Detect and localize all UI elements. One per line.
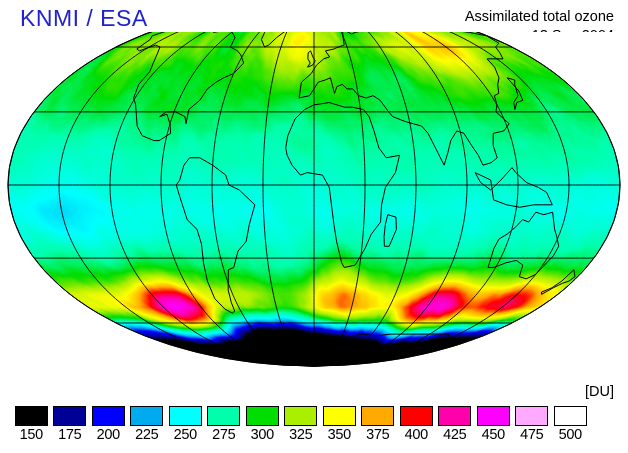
colorbar-swatch [323,406,356,426]
colorbar-tick-label: 150 [12,428,51,443]
colorbar-cell: 500 [551,406,590,443]
colorbar-swatch [438,406,471,426]
colorbar-tick-label: 225 [128,428,167,443]
colorbar-swatches: 1501752002252502753003253503754004254504… [0,406,628,453]
unit-label: [DU] [585,384,614,400]
ozone-map [4,32,624,404]
colorbar-tick-label: 300 [243,428,282,443]
colorbar-swatch [361,406,394,426]
colorbar-swatch [15,406,48,426]
colorbar-cell: 225 [128,406,167,443]
colorbar-tick-label: 475 [513,428,552,443]
colorbar-tick-label: 200 [89,428,128,443]
quantity-label: Assimilated total ozone [465,8,614,27]
page-title: KNMI / ESA [20,6,148,30]
colorbar-tick-label: 450 [474,428,513,443]
colorbar-tick-label: 500 [551,428,590,443]
colorbar-swatch [477,406,510,426]
colorbar-swatch [400,406,433,426]
colorbar-cell: 400 [397,406,436,443]
colorbar-cell: 200 [89,406,128,443]
colorbar-cell: 250 [166,406,205,443]
colorbar-swatch [284,406,317,426]
colorbar-tick-label: 325 [282,428,321,443]
colorbar-swatch [169,406,202,426]
colorbar-cell: 475 [513,406,552,443]
colorbar-cell: 350 [320,406,359,443]
colorbar-tick-label: 400 [397,428,436,443]
colorbar-tick-label: 350 [320,428,359,443]
colorbar-cell: 150 [12,406,51,443]
colorbar-cell: 175 [51,406,90,443]
colorbar-swatch [554,406,587,426]
colorbar-swatch [92,406,125,426]
colorbar-swatch [53,406,86,426]
colorbar-cell: 325 [282,406,321,443]
colorbar-cell: 375 [359,406,398,443]
colorbar-tick-label: 250 [166,428,205,443]
mollweide-ozone-field [4,32,624,404]
colorbar-tick-label: 425 [436,428,475,443]
colorbar-swatch [130,406,163,426]
colorbar-tick-label: 175 [51,428,90,443]
colorbar-swatch [246,406,279,426]
colorbar-cell: 425 [436,406,475,443]
colorbar-cell: 275 [205,406,244,443]
colorbar-cell: 300 [243,406,282,443]
colorbar-swatch [207,406,240,426]
colorbar-tick-label: 275 [205,428,244,443]
colorbar-tick-label: 375 [359,428,398,443]
colorbar: [DU] 15017520022525027530032535037540042… [0,406,628,453]
colorbar-swatch [515,406,548,426]
colorbar-cell: 450 [474,406,513,443]
